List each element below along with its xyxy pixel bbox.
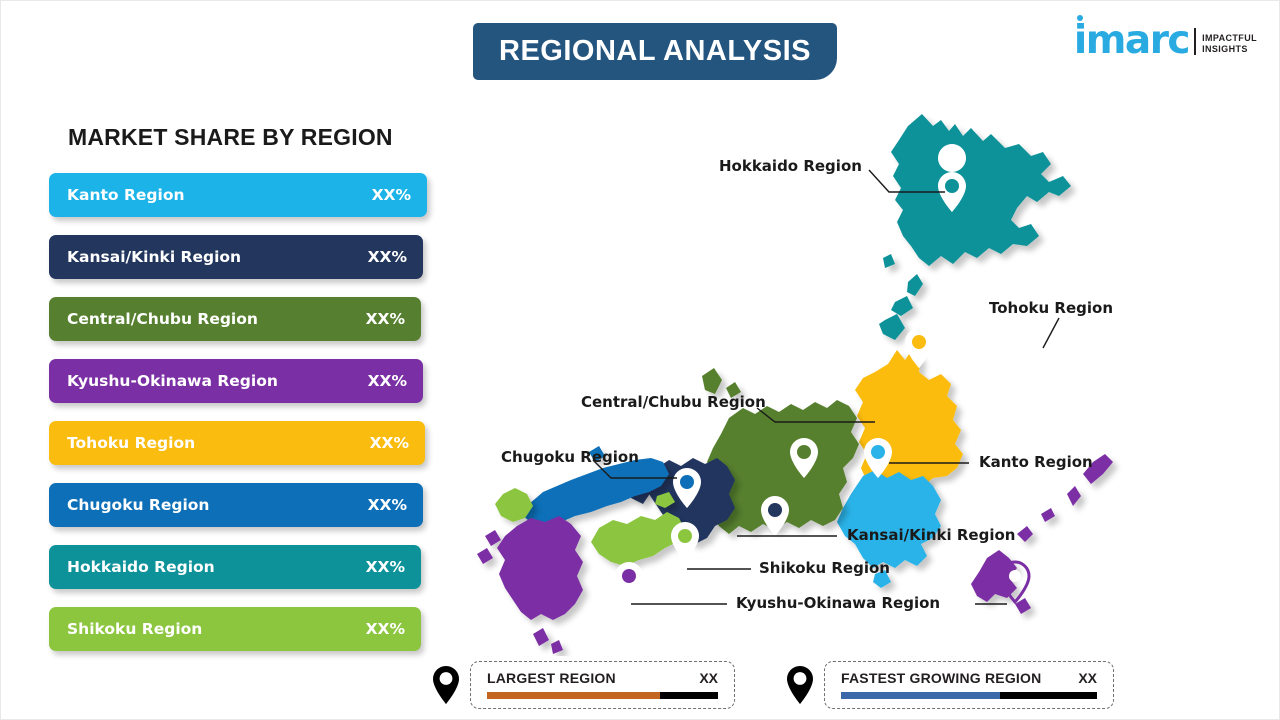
market-share-bar-label: Kansai/Kinki Region (67, 248, 241, 266)
logo-tagline: IMPACTFUL INSIGHTS (1202, 33, 1257, 59)
fastest-region-value: XX (1052, 670, 1097, 686)
map-label-kanto: Kanto Region (979, 453, 1093, 471)
market-share-bar[interactable]: Shikoku RegionXX% (49, 607, 421, 651)
logo-divider (1194, 28, 1196, 55)
map-label-shikoku: Shikoku Region (759, 559, 890, 577)
market-share-bar-value: XX% (366, 620, 405, 638)
map-pin-icon (785, 665, 815, 705)
fastest-region-group: FASTEST GROWING REGION XX (785, 661, 1114, 709)
market-share-bar-list: Kanto RegionXX%Kansai/Kinki RegionXX%Cen… (49, 173, 449, 669)
market-share-bar[interactable]: Kanto RegionXX% (49, 173, 427, 217)
logo-wordmark-text: imarc (1074, 18, 1189, 63)
page-title: REGIONAL ANALYSIS (499, 35, 811, 68)
map-pin-kyushu (615, 562, 643, 602)
logo-tagline-line2: INSIGHTS (1202, 44, 1257, 55)
market-share-bar-label: Kanto Region (67, 186, 185, 204)
market-share-bar-label: Chugoku Region (67, 496, 209, 514)
map-label-kyushu-okinawa: Kyushu-Okinawa Region (736, 594, 940, 612)
slide-canvas: REGIONAL ANALYSIS imarc IMPACTFUL INSIGH… (1, 1, 1279, 719)
fastest-region-badge: FASTEST GROWING REGION XX (824, 661, 1114, 709)
fastest-region-row: FASTEST GROWING REGION XX (841, 670, 1097, 686)
largest-region-value: XX (673, 670, 718, 686)
market-share-bar-label: Tohoku Region (67, 434, 195, 452)
market-share-bar-label: Hokkaido Region (67, 558, 215, 576)
largest-region-progress-fill (487, 692, 660, 699)
map-region-kyushu (477, 516, 583, 654)
market-share-bar-value: XX% (370, 434, 409, 452)
fastest-region-label: FASTEST GROWING REGION (841, 670, 1041, 686)
map-label-chugoku: Chugoku Region (501, 448, 639, 466)
largest-region-group: LARGEST REGION XX (431, 661, 735, 709)
market-share-bar-label: Kyushu-Okinawa Region (67, 372, 278, 390)
logo-tagline-line1: IMPACTFUL (1202, 33, 1257, 44)
logo-wordmark: imarc (1074, 23, 1189, 59)
market-share-bar-label: Central/Chubu Region (67, 310, 258, 328)
logo-dot-icon (1077, 15, 1083, 21)
market-share-bar-value: XX% (372, 186, 411, 204)
largest-region-progress (487, 692, 718, 699)
market-share-bar-label: Shikoku Region (67, 620, 202, 638)
largest-region-progress-rest (660, 692, 718, 699)
page-title-banner: REGIONAL ANALYSIS (473, 23, 837, 80)
market-share-bar-value: XX% (366, 558, 405, 576)
market-share-bar-value: XX% (368, 372, 407, 390)
market-share-bar-value: XX% (366, 310, 405, 328)
market-share-bar[interactable]: Chugoku RegionXX% (49, 483, 423, 527)
map-pin-kansai (761, 496, 789, 536)
japan-region-map: Hokkaido Region Tohoku Region Central/Ch… (471, 96, 1261, 656)
market-share-bar[interactable]: Tohoku RegionXX% (49, 421, 425, 465)
market-share-bar-value: XX% (368, 496, 407, 514)
market-share-bar[interactable]: Hokkaido RegionXX% (49, 545, 421, 589)
map-label-chubu: Central/Chubu Region (581, 393, 766, 411)
map-label-tohoku: Tohoku Region (989, 299, 1113, 317)
market-share-bar-value: XX% (368, 248, 407, 266)
map-label-hokkaido: Hokkaido Region (719, 157, 862, 175)
map-pin-icon (431, 665, 461, 705)
map-label-kansai: Kansai/Kinki Region (847, 526, 1015, 544)
largest-region-row: LARGEST REGION XX (487, 670, 718, 686)
market-share-bar[interactable]: Central/Chubu RegionXX% (49, 297, 421, 341)
fastest-region-progress-rest (1000, 692, 1097, 699)
market-share-bar[interactable]: Kansai/Kinki RegionXX% (49, 235, 423, 279)
market-share-bar[interactable]: Kyushu-Okinawa RegionXX% (49, 359, 423, 403)
imarc-logo: imarc IMPACTFUL INSIGHTS (1074, 15, 1257, 59)
map-region-tohoku (855, 348, 963, 492)
fastest-region-progress (841, 692, 1097, 699)
largest-region-badge: LARGEST REGION XX (470, 661, 735, 709)
fastest-region-progress-fill (841, 692, 1000, 699)
footer-badges: LARGEST REGION XX FASTEST GROWING REGION… (431, 661, 1114, 709)
map-pin-shikoku (671, 522, 699, 562)
largest-region-label: LARGEST REGION (487, 670, 616, 686)
panel-heading: MARKET SHARE BY REGION (68, 124, 393, 151)
